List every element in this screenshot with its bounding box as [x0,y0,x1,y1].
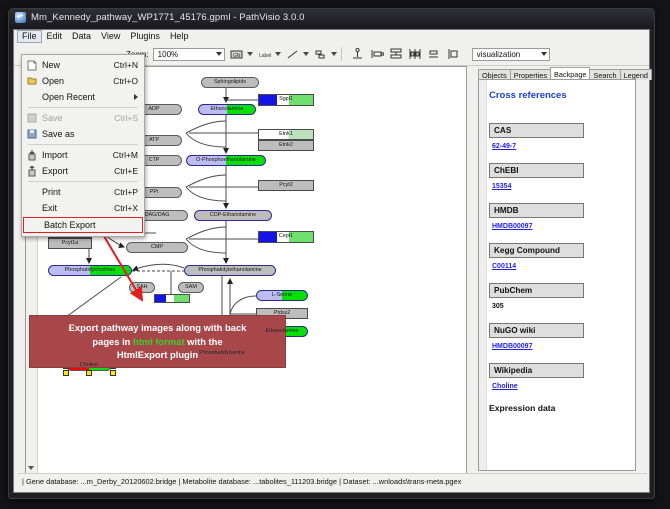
backpage-content[interactable]: Cross references CAS 62-49-7 ChEBI 15354… [478,79,636,471]
new-file-icon [22,60,42,71]
submenu-arrow-icon [134,94,138,100]
xref-value-cas[interactable]: 62-49-7 [492,143,631,150]
file-menu-item-batch-export[interactable]: Batch Export [23,217,143,233]
line-icon[interactable] [286,47,300,61]
menu-bar[interactable]: File Edit Data View Plugins Help [14,30,649,43]
visualization-combo[interactable]: visualization [472,48,550,61]
expression-data-heading: Expression data [489,403,631,413]
screen: Mm_Kennedy_pathway_WP1771_45176.gpml - P… [0,0,670,509]
application-window: Mm_Kennedy_pathway_WP1771_45176.gpml - P… [8,8,655,499]
callout-line-2-pre: pages in [92,336,133,347]
side-panel-tabs[interactable]: Objects Properties Backpage Search Legen… [478,66,651,80]
node-pcyt1a[interactable]: Pcyt1a [48,238,92,249]
menu-data[interactable]: Data [67,30,96,43]
node-sam[interactable]: SAM [178,282,204,293]
callout-line-2-highlight: html format [133,336,185,347]
node-sphingolipids[interactable]: Sphingolipids [201,77,259,88]
datanode-icon[interactable]: GN [230,47,244,61]
client-area: File Edit Data View Plugins Help Zoom: 1… [13,29,650,493]
node-etnk2[interactable]: Etnk2 [258,140,314,151]
xref-label-wikipedia: Wikipedia [489,363,584,378]
node-cmp[interactable]: CMP [126,242,188,253]
export-icon [22,166,42,177]
xref-label-nugo-wiki: NuGO wiki [489,323,584,338]
anchor-dropdown-icon[interactable] [331,52,337,56]
xref-value-pubchem: 305 [492,303,631,310]
save-as-icon [22,129,42,139]
group-icon[interactable] [427,47,441,61]
node-pcyt2[interactable]: Pcyt2 [258,180,314,191]
file-menu-item-new[interactable]: New Ctrl+N [22,57,144,73]
xref-value-hmdb[interactable]: HMDB00097 [492,223,631,230]
zoom-combo[interactable]: 100% [153,48,225,61]
backpage-scrollbar[interactable] [479,80,487,470]
toolbar-separator [341,47,342,61]
node-phosphatidylcholines[interactable]: Phosphatidylcholines [48,265,132,276]
file-menu-item-save-as[interactable]: Save as [22,126,144,142]
import-icon [22,150,42,161]
anchor-icon[interactable] [314,47,328,61]
selection-handle-se[interactable] [110,370,116,376]
node-etnk1[interactable]: Etnk1 [258,129,314,140]
save-icon [22,113,42,123]
annotation-callout: Export pathway images along with back pa… [29,315,286,368]
align-left-icon[interactable] [370,47,384,61]
xref-label-kegg-compound: Kegg Compound [489,243,584,258]
title-bar: Mm_Kennedy_pathway_WP1771_45176.gpml - P… [9,9,654,29]
order-icon[interactable] [446,47,460,61]
file-menu-item-save: Save Ctrl+S [22,110,144,126]
node-pemt[interactable] [154,294,190,303]
visualization-value: visualization [477,50,521,59]
node-ethanolamine-1[interactable]: Ethanolamine [198,104,256,115]
node-sah[interactable]: SAH [129,282,155,293]
node-o-phosphoethanolamine[interactable]: O-Phosphoethanolamine [186,155,266,166]
node-sgpl1[interactable]: Sgpl1 [258,94,314,106]
xref-label-cas: CAS [489,123,584,138]
file-menu-item-export[interactable]: Export Ctrl+E [22,163,144,179]
node-phosphatidylethanolamine[interactable]: Phosphatidylethanolamine [184,265,276,276]
label-dropdown-icon[interactable] [275,52,281,56]
xref-label-hmdb: HMDB [489,203,584,218]
menu-plugins[interactable]: Plugins [125,30,165,43]
node-cdp-ethanolamine[interactable]: CDP-Ethanolamine [194,210,272,221]
selection-handle-s[interactable] [86,370,92,376]
distribute-icon[interactable] [408,47,422,61]
xref-value-chebi[interactable]: 15354 [492,183,631,190]
file-menu-item-exit[interactable]: Exit Ctrl+X [22,200,144,216]
file-menu-item-import[interactable]: Import Ctrl+M [22,147,144,163]
menu-separator [28,107,138,108]
file-menu-item-open[interactable]: Open Ctrl+O [22,73,144,89]
folder-open-icon [22,76,42,86]
xref-value-kegg-compound[interactable]: C00114 [492,263,631,270]
line-dropdown-icon[interactable] [303,52,309,56]
node-l-serine[interactable]: L-Serine [256,290,308,301]
xref-value-wikipedia[interactable]: Choline [492,383,631,390]
menu-help[interactable]: Help [165,30,194,43]
align-top-icon[interactable] [351,47,365,61]
xref-value-nugo-wiki[interactable]: HMDB00097 [492,343,631,350]
status-bar-text: | Gene database: ...m_Derby_20120602.bri… [18,477,461,486]
label-icon[interactable]: Label [258,47,272,61]
menu-view[interactable]: View [96,30,125,43]
menu-file[interactable]: File [17,30,42,43]
xref-label-pubchem: PubChem [489,283,584,298]
file-menu-item-open-recent[interactable]: Open Recent [22,89,144,105]
file-menu-popup[interactable]: New Ctrl+N Open Ctrl+O Open Recent [21,54,145,237]
file-menu-item-print[interactable]: Print Ctrl+P [22,184,144,200]
svg-text:Label: Label [259,53,271,59]
xref-label-chebi: ChEBI [489,163,584,178]
callout-line-2-post: with the [185,336,223,347]
menu-separator [28,144,138,145]
chevron-down-icon [541,52,547,56]
status-bar: | Gene database: ...m_Derby_20120602.bri… [18,473,647,488]
menu-edit[interactable]: Edit [42,30,68,43]
node-cept1[interactable]: Cept1 [258,231,314,243]
zoom-value: 100% [158,50,178,59]
stack-icon[interactable] [389,47,403,61]
callout-line-3: HtmlExport plugin [117,349,198,360]
menu-separator [28,181,138,182]
callout-line-1: Export pathway images along with back [69,322,247,333]
selection-handle-sw[interactable] [63,370,69,376]
window-title: Mm_Kennedy_pathway_WP1771_45176.gpml - P… [31,12,305,23]
cross-references-heading: Cross references [489,90,631,101]
chevron-down-icon [216,52,222,56]
side-panel: Objects Properties Backpage Search Legen… [472,66,642,472]
app-icon [15,12,26,23]
scroll-down-icon[interactable] [28,466,34,470]
svg-text:GN: GN [233,53,241,59]
datanode-dropdown-icon[interactable] [247,52,253,56]
